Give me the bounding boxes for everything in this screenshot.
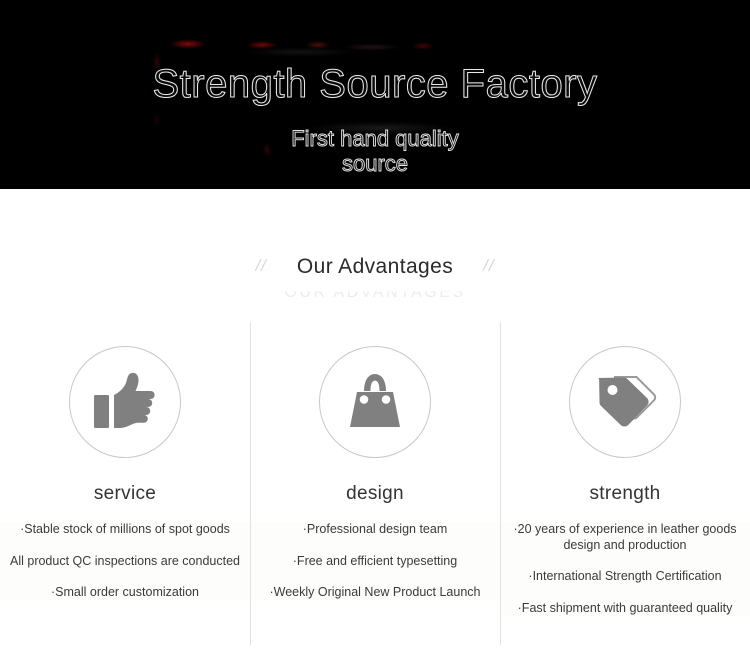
hero-subtitle: First hand quality source — [0, 126, 750, 176]
column-description-service: ·Stable stock of millions of spot goods … — [0, 522, 250, 601]
section-title: Our Advantages — [297, 255, 453, 279]
column-title-service: service — [94, 483, 156, 505]
slash-right-decoration: // — [483, 256, 494, 276]
icon-circle-design — [319, 346, 431, 458]
column-title-strength: strength — [589, 483, 660, 505]
description-line: ·International Strength Certification — [522, 569, 727, 585]
description-line: All product QC inspections are conducted — [4, 554, 246, 570]
hero-banner: Strength Source Factory First hand quali… — [0, 0, 750, 189]
column-description-strength: ·20 years of experience in leather goods… — [500, 522, 750, 616]
advantage-column-design: design ·Professional design team ·Free a… — [250, 322, 500, 666]
icon-circle-service — [69, 346, 181, 458]
description-line: ·Stable stock of millions of spot goods — [14, 522, 236, 538]
advantages-columns: service ·Stable stock of millions of spo… — [0, 322, 750, 666]
advantage-column-strength: strength ·20 years of experience in leat… — [500, 322, 750, 666]
section-heading-row: // Our Advantages // — [0, 248, 750, 286]
description-line: ·Weekly Original New Product Launch — [264, 585, 487, 601]
column-title-design: design — [346, 483, 404, 505]
description-line: ·Professional design team — [297, 522, 454, 538]
description-line: ·Small order customization — [45, 585, 205, 601]
advantage-column-service: service ·Stable stock of millions of spo… — [0, 322, 250, 666]
handbag-icon — [342, 371, 408, 433]
slash-left-decoration: // — [255, 256, 266, 276]
price-tag-icon — [591, 370, 659, 434]
icon-circle-strength — [569, 346, 681, 458]
description-line: ·20 years of experience in leather goods… — [500, 522, 750, 553]
thumbs-up-icon — [92, 371, 158, 433]
column-description-design: ·Professional design team ·Free and effi… — [250, 522, 500, 601]
hero-title: Strength Source Factory — [0, 62, 750, 107]
section-heading: // Our Advantages // OUR ADVANTAGES — [0, 248, 750, 310]
page-root: Strength Source Factory First hand quali… — [0, 0, 750, 666]
description-line: ·Free and efficient typesetting — [287, 554, 463, 570]
description-line: ·Fast shipment with guaranteed quality — [512, 601, 739, 617]
section-subtitle: OUR ADVANTAGES — [0, 284, 750, 302]
